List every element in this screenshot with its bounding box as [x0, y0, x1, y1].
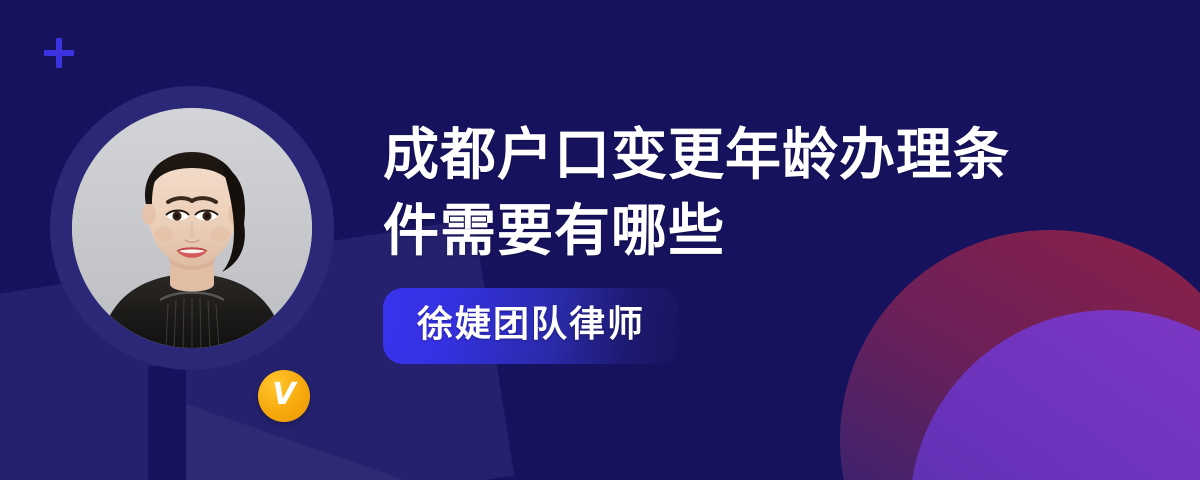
page-title: 成都户口变更年龄办理条 件需要有哪些 — [383, 118, 1083, 270]
headline-line-2: 件需要有哪些 — [383, 199, 725, 264]
plus-icon — [44, 38, 74, 68]
vertical-bar-shape — [148, 366, 186, 480]
headline-line-1: 成都户口变更年龄办理条 — [383, 123, 1010, 188]
verified-badge-icon: V — [258, 370, 310, 422]
content-block: 成都户口变更年龄办理条 件需要有哪些 徐婕团队律师 — [383, 118, 1083, 364]
avatar[interactable]: V — [50, 86, 334, 370]
lawyer-team-button[interactable]: 徐婕团队律师 — [383, 288, 679, 364]
promo-banner: V 成都户口变更年龄办理条 件需要有哪些 徐婕团队律师 — [0, 0, 1200, 480]
verified-check-glyph: V — [272, 380, 295, 410]
avatar-photo — [72, 108, 312, 348]
